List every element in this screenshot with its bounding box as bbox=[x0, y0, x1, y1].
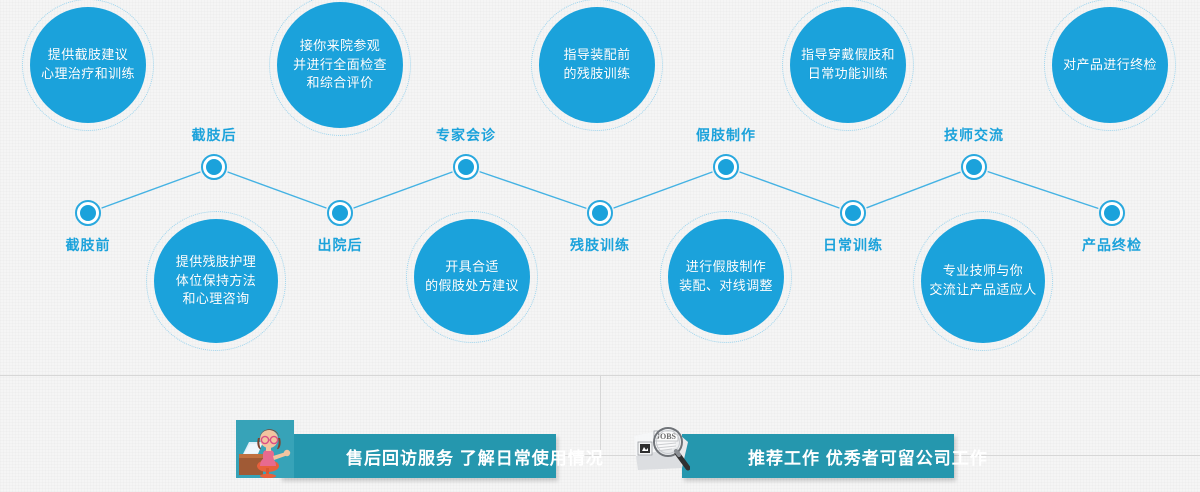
flow-node-label-7: 日常训练 bbox=[793, 235, 913, 255]
bubble-label: 对产品进行终检 bbox=[1063, 56, 1157, 75]
connector-segment bbox=[614, 172, 712, 208]
flow-node-label-2: 截肢后 bbox=[154, 125, 274, 145]
bubble-5: 指导装配前 的残肢训练 bbox=[531, 0, 663, 131]
bubble-circle: 对产品进行终检 bbox=[1052, 7, 1168, 123]
bubble-circle: 提供残肢护理 体位保持方法 和心理咨询 bbox=[154, 219, 278, 343]
banner-after-sales[interactable]: 售后回访服务 了解日常使用情况 bbox=[280, 434, 556, 478]
bubble-label: 指导装配前 的残肢训练 bbox=[563, 46, 630, 84]
bubble-7: 指导穿戴假肢和 日常功能训练 bbox=[782, 0, 914, 131]
flow-node-label-1: 截肢前 bbox=[28, 235, 148, 255]
bubble-label: 接你来院参观 并进行全面检查 和综合评价 bbox=[293, 37, 387, 94]
flow-node-2[interactable] bbox=[201, 154, 227, 180]
bubble-circle: 专业技师与你 交流让产品适应人 bbox=[921, 219, 1045, 343]
bubble-label: 指导穿戴假肢和 日常功能训练 bbox=[801, 46, 895, 84]
bubble-3: 接你来院参观 并进行全面检查 和综合评价 bbox=[269, 0, 411, 136]
flow-node-8[interactable] bbox=[961, 154, 987, 180]
flow-node-5[interactable] bbox=[587, 200, 613, 226]
bubble-label: 进行假肢制作 装配、对线调整 bbox=[679, 258, 773, 296]
connector-segment bbox=[740, 172, 839, 208]
jobs-newspaper-magnifier-icon: JOBS bbox=[632, 418, 690, 476]
bubble-9: 对产品进行终检 bbox=[1044, 0, 1176, 131]
woman-at-desk-illustration bbox=[236, 420, 294, 478]
bubble-circle: 接你来院参观 并进行全面检查 和综合评价 bbox=[277, 2, 403, 128]
connector-segment bbox=[867, 172, 960, 207]
flow-node-label-8: 技师交流 bbox=[914, 125, 1034, 145]
flow-node-4[interactable] bbox=[453, 154, 479, 180]
bubble-1: 提供截肢建议 心理治疗和训练 bbox=[22, 0, 154, 131]
bubble-label: 开具合适 的假肢处方建议 bbox=[425, 258, 519, 296]
infographic-canvas: 提供截肢建议 心理治疗和训练提供残肢护理 体位保持方法 和心理咨询接你来院参观 … bbox=[0, 0, 1200, 492]
flow-node-label-5: 残肢训练 bbox=[540, 235, 660, 255]
flow-node-label-4: 专家会诊 bbox=[406, 125, 526, 145]
flow-node-label-3: 出院后 bbox=[280, 235, 400, 255]
bubble-circle: 进行假肢制作 装配、对线调整 bbox=[668, 219, 784, 335]
bubble-label: 提供残肢护理 体位保持方法 和心理咨询 bbox=[176, 253, 256, 310]
bubble-4: 开具合适 的假肢处方建议 bbox=[406, 211, 538, 343]
banner-after-sales-label: 售后回访服务 了解日常使用情况 bbox=[346, 444, 604, 469]
flow-node-9[interactable] bbox=[1099, 200, 1125, 226]
flow-node-6[interactable] bbox=[713, 154, 739, 180]
connector-segment bbox=[102, 172, 200, 208]
bubble-circle: 提供截肢建议 心理治疗和训练 bbox=[30, 7, 146, 123]
bubble-label: 专业技师与你 交流让产品适应人 bbox=[929, 262, 1036, 300]
flow-node-7[interactable] bbox=[840, 200, 866, 226]
flow-node-1[interactable] bbox=[75, 200, 101, 226]
connector-segment bbox=[480, 172, 586, 208]
connector-segment bbox=[228, 172, 326, 208]
flow-node-label-9: 产品终检 bbox=[1052, 235, 1172, 255]
bubble-6: 进行假肢制作 装配、对线调整 bbox=[660, 211, 792, 343]
banner-job-referral-label: 推荐工作 优秀者可留公司工作 bbox=[748, 444, 988, 469]
bubble-circle: 指导穿戴假肢和 日常功能训练 bbox=[790, 7, 906, 123]
flow-node-label-6: 假肢制作 bbox=[666, 125, 786, 145]
bubble-circle: 指导装配前 的残肢训练 bbox=[539, 7, 655, 123]
banner-job-referral[interactable]: 推荐工作 优秀者可留公司工作 bbox=[682, 434, 954, 478]
connector-segment bbox=[988, 172, 1098, 209]
bubble-label: 提供截肢建议 心理治疗和训练 bbox=[41, 46, 135, 84]
bubble-circle: 开具合适 的假肢处方建议 bbox=[414, 219, 530, 335]
connector-segment bbox=[354, 172, 452, 208]
bubble-8: 专业技师与你 交流让产品适应人 bbox=[913, 211, 1053, 351]
flow-node-3[interactable] bbox=[327, 200, 353, 226]
bubble-2: 提供残肢护理 体位保持方法 和心理咨询 bbox=[146, 211, 286, 351]
